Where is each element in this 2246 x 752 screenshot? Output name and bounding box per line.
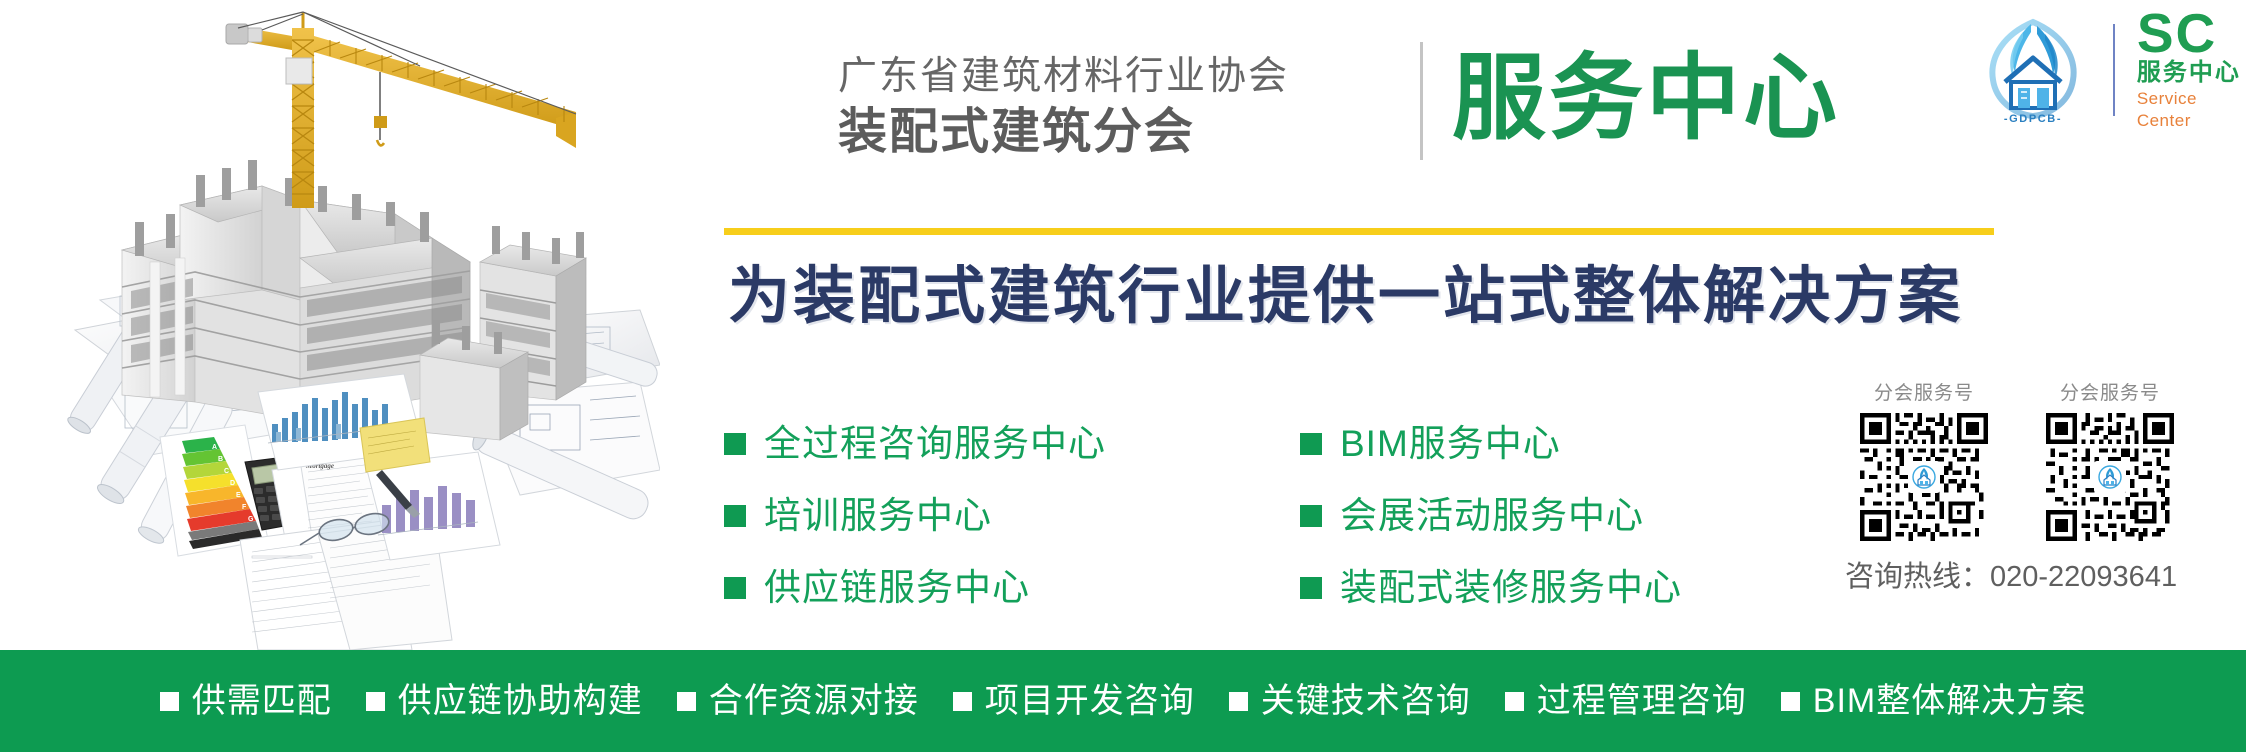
svg-text:F: F bbox=[242, 504, 247, 511]
qr-center-logo-icon bbox=[2094, 461, 2126, 493]
qr-code-right[interactable] bbox=[2046, 413, 2174, 541]
square-bullet-icon bbox=[724, 433, 746, 455]
service-item-label: 装配式装修服务中心 bbox=[1340, 568, 1682, 608]
service-item[interactable]: 会展活动服务中心 bbox=[1300, 480, 1682, 552]
main-headline: 为装配式建筑行业提供一站式整体解决方案 bbox=[728, 258, 1963, 336]
square-bullet-icon bbox=[1300, 577, 1322, 599]
promo-banner: ABC DEF G bbox=[0, 0, 2246, 752]
tower-crane bbox=[226, 12, 576, 208]
qr-caption-left: 分会服务号 bbox=[1845, 378, 2003, 405]
construction-illustration: ABC DEF G bbox=[0, 0, 660, 650]
association-name-block: 广东省建筑材料行业协会 装配式建筑分会 bbox=[838, 52, 1408, 162]
bottom-bar-item-label: BIM整体解决方案 bbox=[1813, 682, 2086, 720]
bottom-bar-item-label: 供应链协助构建 bbox=[398, 682, 643, 720]
bottom-bar-item-label: 合作资源对接 bbox=[709, 682, 919, 720]
bottom-bar-item-label: 关键技术咨询 bbox=[1261, 682, 1471, 720]
square-bullet-icon bbox=[1300, 433, 1322, 455]
bottom-bar-item-label: 项目开发咨询 bbox=[985, 682, 1195, 720]
square-bullet-icon bbox=[1229, 692, 1248, 711]
hotline-text: 咨询热线：020-22093641 bbox=[1845, 553, 2240, 595]
square-bullet-icon bbox=[1505, 692, 1524, 711]
sc-letters: SC bbox=[2137, 8, 2246, 58]
svg-text:E: E bbox=[236, 492, 241, 499]
qr-cell-right: 分会服务号 bbox=[2031, 378, 2189, 541]
gold-divider-rule bbox=[724, 228, 1994, 235]
bottom-services-bar: 供需匹配 供应链协助构建 合作资源对接 项目开发咨询 关键技术咨询 过程管理咨询… bbox=[0, 650, 2246, 752]
association-name-line2: 装配式建筑分会 bbox=[838, 102, 1408, 162]
qr-center-logo-icon bbox=[1908, 461, 1940, 493]
sc-logo-text: SC 服务中心 Service Center bbox=[2137, 8, 2246, 132]
qr-caption-right: 分会服务号 bbox=[2031, 378, 2189, 405]
bottom-bar-item[interactable]: 合作资源对接 bbox=[677, 682, 919, 720]
sc-english-label: Service Center bbox=[2137, 88, 2246, 132]
svg-text:A: A bbox=[212, 444, 217, 451]
service-item-label: 会展活动服务中心 bbox=[1340, 496, 1644, 536]
svg-text:C: C bbox=[224, 468, 229, 475]
square-bullet-icon bbox=[1781, 692, 1800, 711]
service-center-title: 服务中心 bbox=[1452, 38, 1840, 158]
bottom-bar-item[interactable]: 过程管理咨询 bbox=[1505, 682, 1747, 720]
bottom-bar-item[interactable]: 项目开发咨询 bbox=[953, 682, 1195, 720]
service-list-left: 全过程咨询服务中心 培训服务中心 供应链服务中心 bbox=[724, 408, 1106, 624]
association-name-line1: 广东省建筑材料行业协会 bbox=[838, 52, 1408, 102]
service-item-label: 全过程咨询服务中心 bbox=[764, 424, 1106, 464]
square-bullet-icon bbox=[724, 577, 746, 599]
logo-divider bbox=[2113, 24, 2115, 116]
service-item[interactable]: 装配式装修服务中心 bbox=[1300, 552, 1682, 624]
square-bullet-icon bbox=[366, 692, 385, 711]
svg-text:D: D bbox=[230, 480, 235, 487]
bottom-bar-item[interactable]: 供需匹配 bbox=[160, 682, 332, 720]
service-item[interactable]: 培训服务中心 bbox=[724, 480, 1106, 552]
square-bullet-icon bbox=[724, 505, 746, 527]
square-bullet-icon bbox=[677, 692, 696, 711]
sticky-note bbox=[360, 418, 430, 472]
qr-and-hotline-area: 分会服务号 bbox=[1845, 378, 2240, 595]
qr-row: 分会服务号 bbox=[1845, 378, 2240, 541]
bottom-bar-item[interactable]: 关键技术咨询 bbox=[1229, 682, 1471, 720]
square-bullet-icon bbox=[1300, 505, 1322, 527]
sc-chinese-label: 服务中心 bbox=[2137, 58, 2246, 88]
bottom-bar-item[interactable]: BIM整体解决方案 bbox=[1781, 682, 2086, 720]
brand-logo-block: -GDPCB- SC 服务中心 Service Center bbox=[1975, 14, 2246, 126]
service-list-right: BIM服务中心 会展活动服务中心 装配式装修服务中心 bbox=[1300, 408, 1682, 624]
svg-text:B: B bbox=[218, 456, 223, 463]
qr-code-left[interactable] bbox=[1860, 413, 1988, 541]
square-bullet-icon bbox=[160, 692, 179, 711]
service-item[interactable]: 供应链服务中心 bbox=[724, 552, 1106, 624]
gdpcb-label: -GDPCB- bbox=[2004, 113, 2062, 125]
gdpcb-logo-icon: -GDPCB- bbox=[1975, 14, 2091, 126]
svg-text:G: G bbox=[248, 516, 254, 523]
header-vertical-divider bbox=[1420, 42, 1423, 160]
service-item[interactable]: BIM服务中心 bbox=[1300, 408, 1682, 480]
service-item[interactable]: 全过程咨询服务中心 bbox=[724, 408, 1106, 480]
service-item-label: 供应链服务中心 bbox=[764, 568, 1030, 608]
bottom-bar-item-label: 供需匹配 bbox=[192, 682, 332, 720]
service-item-label: BIM服务中心 bbox=[1340, 424, 1561, 464]
service-item-label: 培训服务中心 bbox=[764, 496, 992, 536]
bottom-bar-item-label: 过程管理咨询 bbox=[1537, 682, 1747, 720]
bottom-bar-item[interactable]: 供应链协助构建 bbox=[366, 682, 643, 720]
qr-cell-left: 分会服务号 bbox=[1845, 378, 2003, 541]
square-bullet-icon bbox=[953, 692, 972, 711]
